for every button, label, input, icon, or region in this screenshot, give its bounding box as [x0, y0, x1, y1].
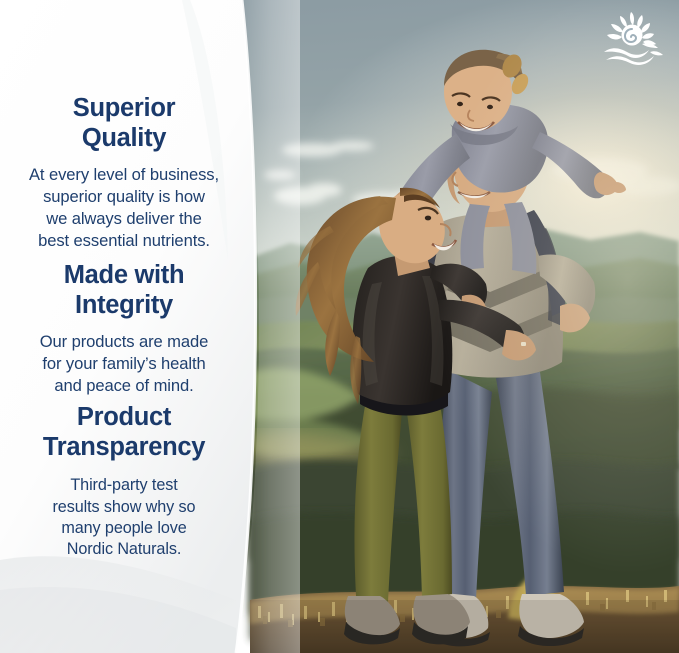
- body-line: we always deliver the: [4, 208, 244, 230]
- heading-line: Product: [4, 402, 244, 432]
- panel-text-content: Superior Quality At every level of busin…: [0, 0, 252, 653]
- body-line: many people love: [4, 518, 244, 539]
- heading-line: Integrity: [4, 290, 244, 320]
- body-line: best essential nutrients.: [4, 230, 244, 252]
- body-line: Third-party test: [4, 475, 244, 496]
- body-made-with-integrity: Our products are made for your family’s …: [4, 331, 244, 397]
- value-block-product-transparency: Product Transparency Third-party test re…: [4, 402, 244, 561]
- body-line: results show why so: [4, 497, 244, 518]
- heading-made-with-integrity: Made with Integrity: [4, 260, 244, 320]
- body-line: for your family’s health: [4, 353, 244, 375]
- body-superior-quality: At every level of business, superior qua…: [4, 164, 244, 252]
- promo-image: Superior Quality At every level of busin…: [0, 0, 679, 653]
- heading-line: Superior: [4, 93, 244, 123]
- body-line: superior quality is how: [4, 186, 244, 208]
- heading-product-transparency: Product Transparency: [4, 402, 244, 462]
- value-block-superior-quality: Superior Quality At every level of busin…: [4, 93, 244, 252]
- heading-superior-quality: Superior Quality: [4, 93, 244, 153]
- body-line: Nordic Naturals.: [4, 539, 244, 560]
- body-line: At every level of business,: [4, 164, 244, 186]
- body-line: Our products are made: [4, 331, 244, 353]
- body-product-transparency: Third-party test results show why so man…: [4, 475, 244, 561]
- heading-line: Made with: [4, 260, 244, 290]
- body-line: and peace of mind.: [4, 375, 244, 397]
- heading-line: Quality: [4, 123, 244, 153]
- heading-line: Transparency: [4, 432, 244, 462]
- value-block-made-with-integrity: Made with Integrity Our products are mad…: [4, 260, 244, 397]
